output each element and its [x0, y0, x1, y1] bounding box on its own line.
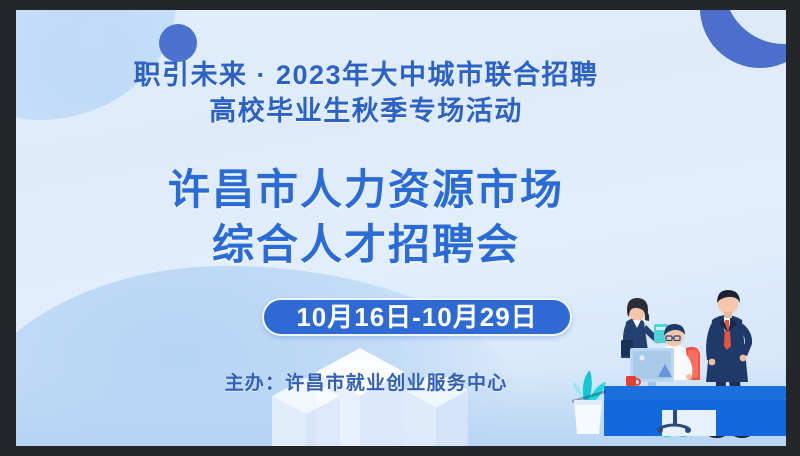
- recruitment-poster: 职引未来 · 2023年大中城市联合招聘 高校毕业生秋季专场活动 许昌市人力资源…: [16, 10, 786, 446]
- headline-line-1: 职引未来 · 2023年大中城市联合招聘: [133, 60, 598, 90]
- screenshot-frame: 职引未来 · 2023年大中城市联合招聘 高校毕业生秋季专场活动 许昌市人力资源…: [0, 0, 800, 456]
- headline-line-2: 高校毕业生秋季专场活动: [16, 93, 716, 129]
- date-range-badge: 10月16日-10月29日: [262, 298, 572, 336]
- organizer-text: 主办：许昌市就业创业服务中心: [16, 368, 716, 395]
- poster-text-content: 职引未来 · 2023年大中城市联合招聘 高校毕业生秋季专场活动 许昌市人力资源…: [16, 10, 786, 446]
- event-headline: 职引未来 · 2023年大中城市联合招聘 高校毕业生秋季专场活动: [16, 57, 716, 129]
- title-line-1: 许昌市人力资源市场: [168, 166, 564, 213]
- page-title: 许昌市人力资源市场 综合人才招聘会: [16, 162, 716, 273]
- title-line-2: 综合人才招聘会: [16, 217, 716, 272]
